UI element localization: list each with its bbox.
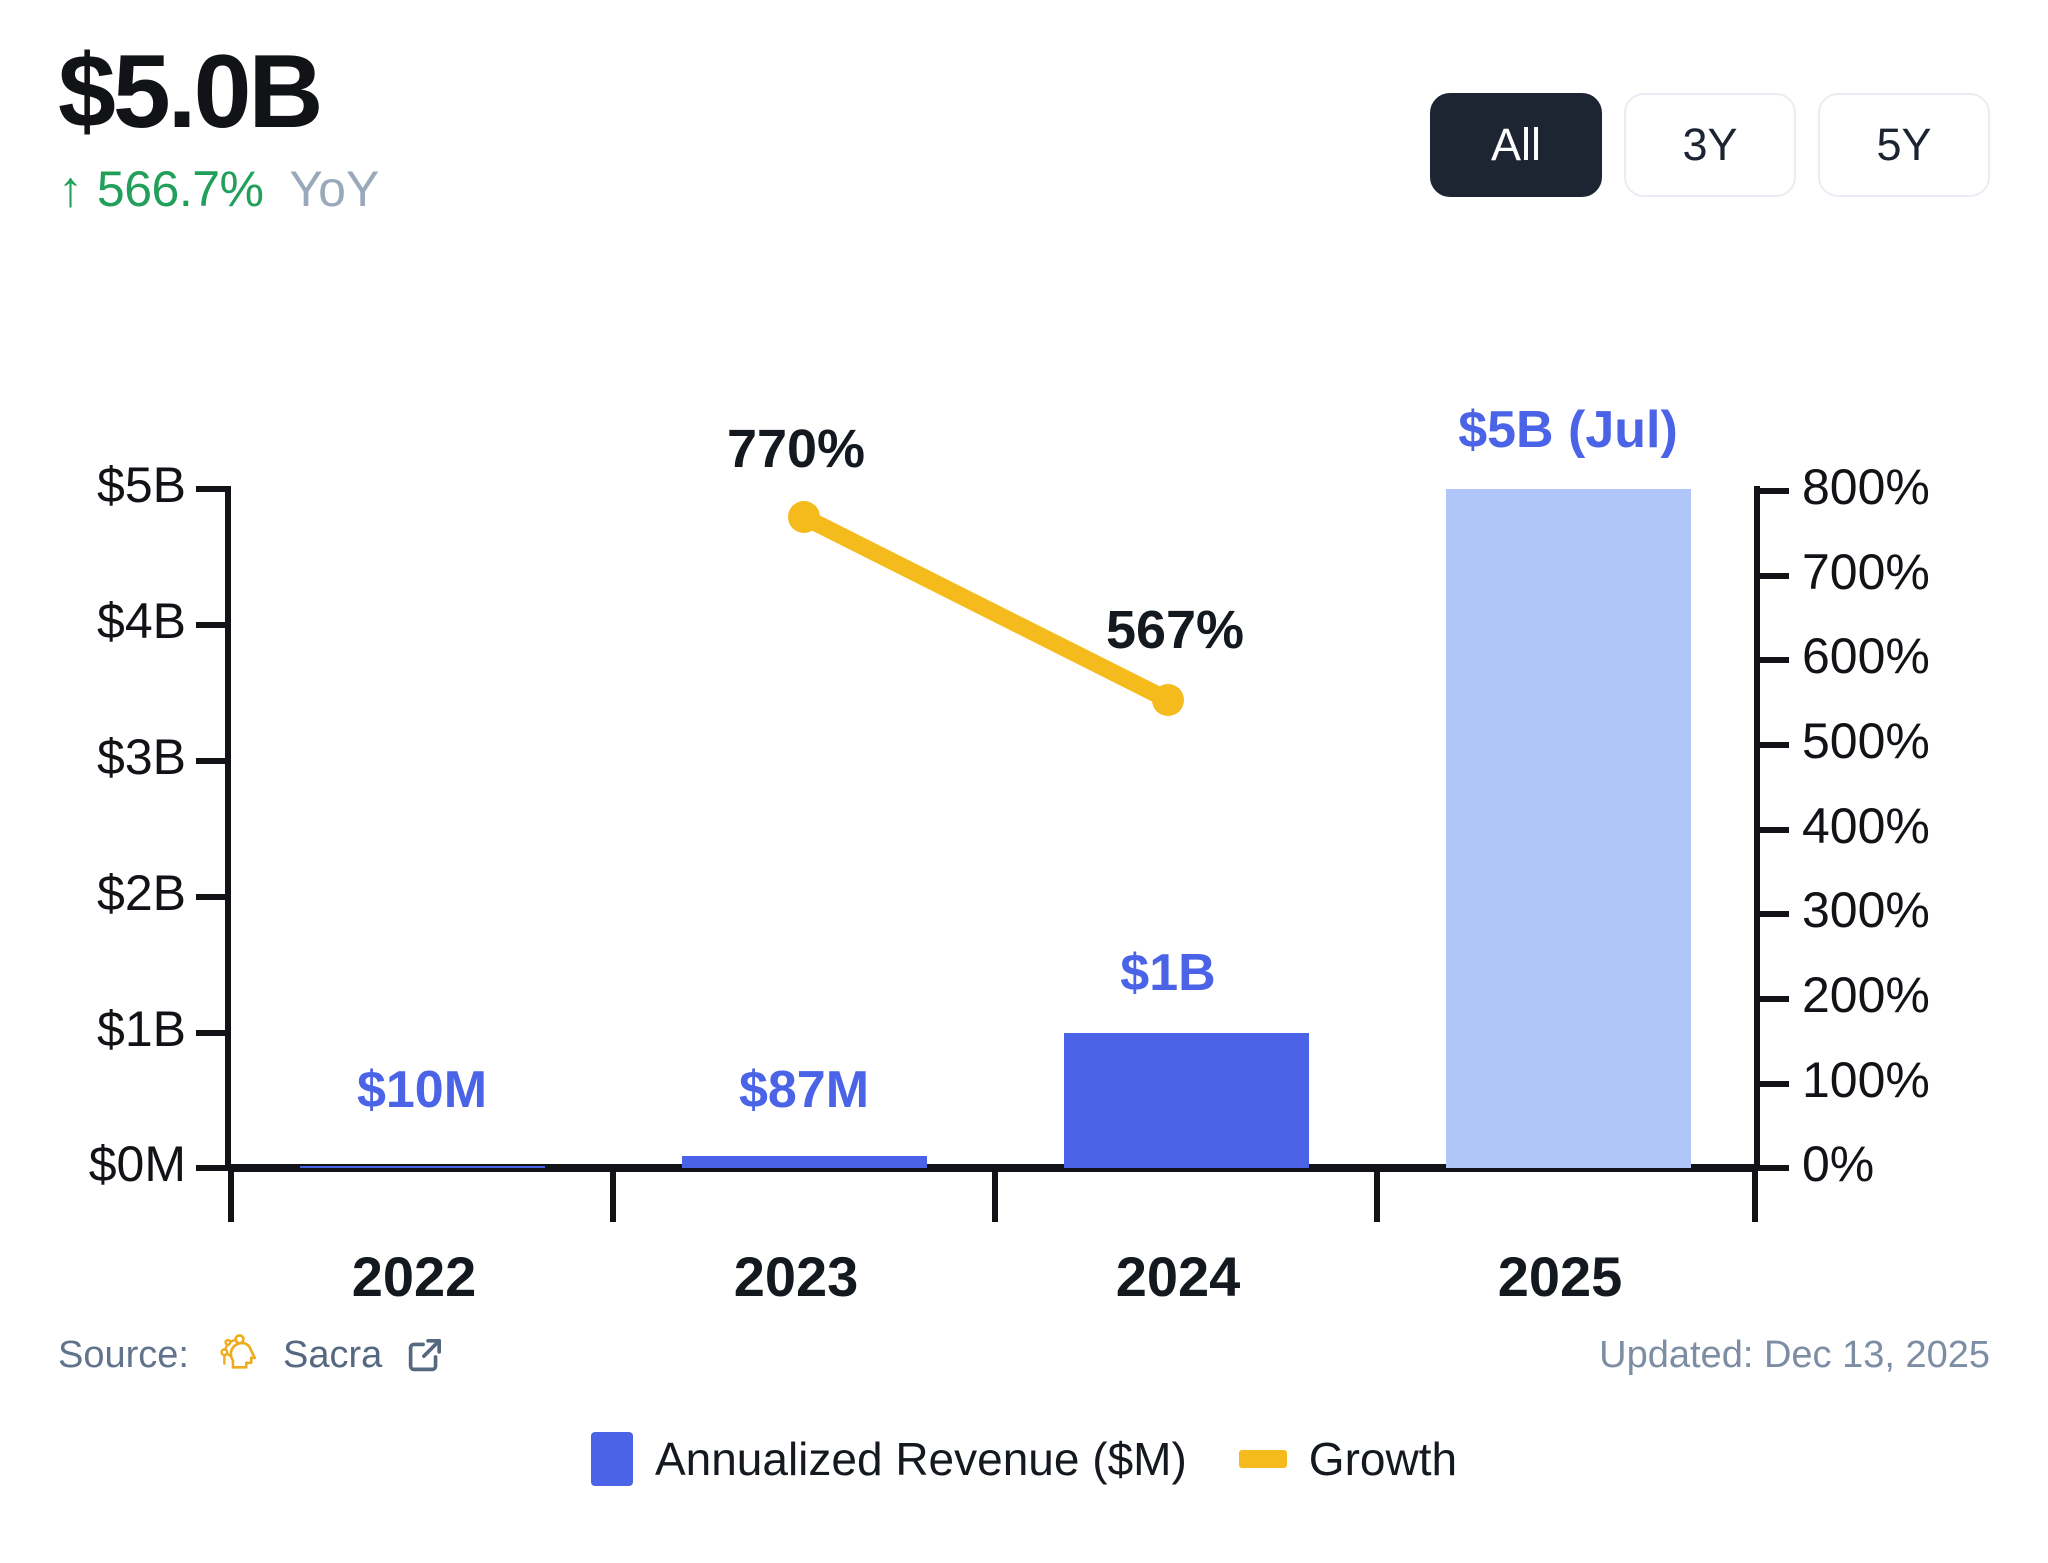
right-axis-tick-500: 500% bbox=[1802, 713, 1930, 769]
x-axis-label-2022: 2022 bbox=[352, 1245, 477, 1308]
yoy-percent: 566.7% bbox=[97, 161, 264, 217]
legend-item-revenue[interactable]: Annualized Revenue ($M) bbox=[591, 1432, 1187, 1486]
left-axis: $5B $4B $3B $2B $1B $0M bbox=[89, 457, 228, 1192]
growth-label-2023: 770% bbox=[727, 419, 865, 479]
right-axis-tick-0: 0% bbox=[1802, 1136, 1874, 1192]
left-axis-tick-5b: $5B bbox=[97, 457, 186, 513]
chart-legend: Annualized Revenue ($M) Growth bbox=[0, 1432, 2048, 1486]
bar-label-2023: $87M bbox=[739, 1061, 869, 1119]
range-button-all[interactable]: All bbox=[1430, 93, 1602, 197]
right-axis-tick-200: 200% bbox=[1802, 967, 1930, 1023]
bar-2024[interactable] bbox=[1064, 1033, 1309, 1168]
range-button-3y[interactable]: 3Y bbox=[1624, 93, 1796, 197]
source-attribution[interactable]: Source: Sacra bbox=[58, 1329, 448, 1381]
bar-2025[interactable] bbox=[1446, 489, 1691, 1168]
legend-label-revenue: Annualized Revenue ($M) bbox=[655, 1432, 1187, 1486]
right-axis-tick-700: 700% bbox=[1802, 544, 1930, 600]
left-axis-tick-2b: $2B bbox=[97, 865, 186, 921]
legend-swatch-revenue-icon bbox=[591, 1432, 633, 1486]
growth-label-2024: 567% bbox=[1106, 600, 1244, 660]
source-label: Source: bbox=[58, 1334, 189, 1377]
right-axis-tick-800: 800% bbox=[1802, 459, 1930, 515]
right-axis-tick-100: 100% bbox=[1802, 1052, 1930, 1108]
bar-label-2025: $5B (Jul) bbox=[1458, 401, 1678, 459]
left-axis-tick-4b: $4B bbox=[97, 593, 186, 649]
sacra-logo-icon bbox=[213, 1329, 265, 1381]
bar-label-2024: $1B bbox=[1120, 944, 1215, 1002]
left-axis-tick-1b: $1B bbox=[97, 1001, 186, 1057]
growth-point-2023[interactable] bbox=[788, 501, 820, 533]
growth-point-2024[interactable] bbox=[1152, 684, 1184, 716]
bar-2022[interactable] bbox=[300, 1166, 545, 1168]
x-axis-label-2024: 2024 bbox=[1116, 1245, 1241, 1308]
range-selector[interactable]: All 3Y 5Y bbox=[1430, 93, 1990, 197]
bar-2023[interactable] bbox=[682, 1156, 927, 1168]
right-axis-tick-600: 600% bbox=[1802, 628, 1930, 684]
legend-item-growth[interactable]: Growth bbox=[1239, 1432, 1457, 1486]
right-axis: 800% 700% 600% 500% 400% 300% 200% 100% … bbox=[1757, 459, 1930, 1192]
left-axis-tick-0m: $0M bbox=[89, 1136, 186, 1192]
revenue-chart-card: $5.0B ↑ 566.7% YoY All 3Y 5Y $5B bbox=[0, 0, 2048, 1563]
x-axis-label-2023: 2023 bbox=[734, 1245, 859, 1308]
legend-swatch-growth-icon bbox=[1239, 1450, 1287, 1468]
chart-footer: Source: Sacra bbox=[58, 1325, 1990, 1385]
bar-label-2022: $10M bbox=[357, 1061, 487, 1119]
yoy-period-label: YoY bbox=[289, 161, 379, 217]
right-axis-tick-300: 300% bbox=[1802, 882, 1930, 938]
source-name[interactable]: Sacra bbox=[283, 1334, 382, 1377]
updated-timestamp: Updated: Dec 13, 2025 bbox=[1599, 1334, 1990, 1377]
right-axis-tick-400: 400% bbox=[1802, 798, 1930, 854]
x-axis-category-ticks bbox=[231, 1168, 1755, 1222]
legend-label-growth: Growth bbox=[1309, 1432, 1457, 1486]
range-button-5y[interactable]: 5Y bbox=[1818, 93, 1990, 197]
x-axis-label-2025: 2025 bbox=[1498, 1245, 1623, 1308]
growth-line-series[interactable] bbox=[788, 501, 1184, 716]
up-arrow-icon: ↑ bbox=[58, 161, 83, 217]
external-link-icon[interactable] bbox=[402, 1332, 448, 1378]
left-axis-tick-3b: $3B bbox=[97, 729, 186, 785]
